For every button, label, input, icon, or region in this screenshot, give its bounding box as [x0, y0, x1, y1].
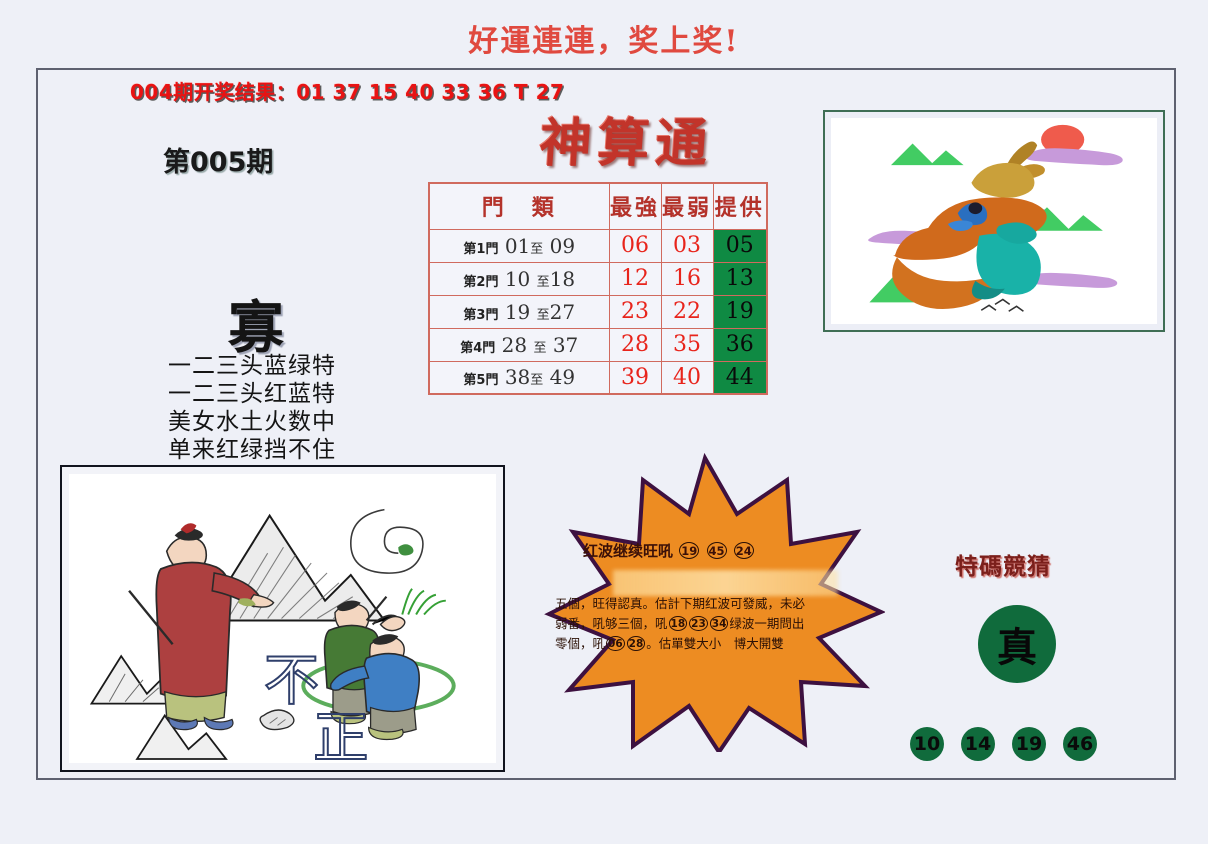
range-from: 01	[505, 234, 530, 258]
starburst-line-3-number: 06	[606, 636, 625, 651]
cell-offer: 44	[713, 361, 767, 394]
cell-strongest: 39	[609, 361, 661, 394]
range-sep: 至	[537, 275, 550, 290]
range-to: 49	[550, 365, 575, 389]
dragon-picture-frame	[823, 110, 1165, 332]
dragon-illustration-icon	[831, 118, 1157, 324]
gate-label: 第2門	[463, 275, 498, 290]
table-header-strongest: 最強	[609, 183, 661, 229]
table-header-offer: 提供	[713, 183, 767, 229]
starburst-line-3-b: 。估單雙大小 博大開雙	[646, 636, 784, 651]
poem-line: 单来红绿挡不住	[147, 436, 357, 464]
special-guess-ball: 14	[961, 727, 995, 761]
cell-strongest: 23	[609, 295, 661, 328]
range-sep: 至	[530, 373, 543, 388]
cell-gate-range: 第5門 38至 49	[429, 361, 609, 394]
range-sep: 至	[533, 341, 546, 356]
cell-offer: 19	[713, 295, 767, 328]
range-to: 27	[550, 300, 575, 324]
cell-gate-range: 第1門 01至 09	[429, 229, 609, 262]
range-to: 37	[553, 333, 578, 357]
table-header-weakest: 最弱	[661, 183, 713, 229]
table-row: 第2門 10 至18 12 16 13	[429, 262, 767, 295]
range-from: 28	[502, 333, 527, 357]
range-from: 10	[505, 267, 530, 291]
cell-gate-range: 第3門 19 至27	[429, 295, 609, 328]
cell-strongest: 12	[609, 262, 661, 295]
starburst-line-1: 五個，旺得認真。估計下期红波可發威，未必	[555, 594, 855, 614]
range-from: 38	[505, 365, 530, 389]
poem-line: 一二三头红蓝特	[147, 380, 357, 408]
draw-result-line: 004期开奖结果：01 37 15 40 33 36 T 27	[130, 76, 564, 105]
table-header-gate: 門 類	[429, 183, 609, 229]
starburst-line-2-a: 弱番，吼够三個，吼	[555, 616, 668, 631]
ink-picture-frame: 不 正	[60, 465, 505, 772]
special-guess-main-char: 真	[997, 615, 1037, 673]
gate-label: 第1門	[463, 242, 498, 257]
starburst-line-2: 弱番，吼够三個，吼182334绿波一期問出	[555, 614, 855, 634]
table-row: 第5門 38至 49 39 40 44	[429, 361, 767, 394]
starburst-body: 五個，旺得認真。估計下期红波可發威，未必 弱番，吼够三個，吼182334绿波一期…	[555, 594, 855, 654]
table-row: 第3門 19 至27 23 22 19	[429, 295, 767, 328]
cell-strongest: 06	[609, 229, 661, 262]
cell-weakest: 22	[661, 295, 713, 328]
poem-line: 美女水土火数中	[147, 408, 357, 436]
range-sep: 至	[537, 308, 550, 323]
starburst-line-2-number: 23	[689, 616, 708, 631]
cell-offer: 13	[713, 262, 767, 295]
starburst-head-number: 19	[679, 542, 699, 559]
starburst-block: 红波继续旺吼 19 45 24 五個，旺得認真。估計下期红波可發威，未必 弱番，…	[525, 452, 885, 752]
special-guess-title: 特碼競猜	[955, 547, 1051, 581]
starburst-headline: 红波继续旺吼 19 45 24	[583, 540, 833, 561]
starburst-line-3-number: 28	[627, 636, 646, 651]
cell-weakest: 16	[661, 262, 713, 295]
range-sep: 至	[530, 242, 543, 257]
special-guess-ball-row: 10 14 19 46	[910, 727, 1125, 761]
cell-strongest: 28	[609, 328, 661, 361]
cell-gate-range: 第4門 28 至 37	[429, 328, 609, 361]
dragon-picture-canvas	[831, 118, 1157, 324]
gate-label: 第5門	[463, 373, 498, 388]
cell-offer: 05	[713, 229, 767, 262]
table-header-row: 門 類 最強 最弱 提供	[429, 183, 767, 229]
gate-label: 第3門	[463, 308, 498, 323]
starburst-headline-text: 红波继续旺吼	[583, 542, 673, 560]
range-to: 09	[550, 234, 575, 258]
brand-title: 神算通	[537, 101, 716, 176]
table-row: 第4門 28 至 37 28 35 36	[429, 328, 767, 361]
issue-number: 第005期	[163, 140, 273, 179]
special-guess-ball: 46	[1063, 727, 1097, 761]
banner-slogan: 好運連連，奖上奖!	[0, 16, 1208, 60]
starburst-line-3-a: 零個，吼	[555, 636, 605, 651]
special-guess-main-ball: 真	[978, 605, 1056, 683]
cell-offer: 36	[713, 328, 767, 361]
starburst-head-number: 45	[707, 542, 727, 559]
starburst-line-3: 零個，吼0628。估單雙大小 博大開雙	[555, 634, 855, 654]
cell-weakest: 40	[661, 361, 713, 394]
poem-block: 一二三头蓝绿特 一二三头红蓝特 美女水土火数中 单来红绿挡不住	[147, 352, 357, 464]
ink-picture-canvas: 不 正	[69, 474, 496, 763]
cell-weakest: 03	[661, 229, 713, 262]
range-from: 19	[505, 300, 530, 324]
starburst-line-2-number: 18	[669, 616, 688, 631]
page-root: 好運連連，奖上奖! 004期开奖结果：01 37 15 40 33 36 T 2…	[0, 0, 1208, 844]
prediction-table: 門 類 最強 最弱 提供 第1門 01至 09 06 03 05 第2門 10 …	[428, 182, 768, 395]
starburst-head-number: 24	[734, 542, 754, 559]
gate-label: 第4門	[460, 341, 495, 356]
ink-char-zheng: 正	[313, 707, 368, 763]
ink-illustration-icon: 不 正	[69, 474, 496, 763]
table-row: 第1門 01至 09 06 03 05	[429, 229, 767, 262]
starburst-line-2-number: 34	[710, 616, 729, 631]
ink-char-bu: 不	[264, 650, 319, 714]
cell-weakest: 35	[661, 328, 713, 361]
range-to: 18	[550, 267, 575, 291]
poem-line: 一二三头蓝绿特	[147, 352, 357, 380]
cell-gate-range: 第2門 10 至18	[429, 262, 609, 295]
special-guess-ball: 19	[1012, 727, 1046, 761]
starburst-line-2-b: 绿波一期問出	[729, 616, 804, 631]
special-guess-ball: 10	[910, 727, 944, 761]
